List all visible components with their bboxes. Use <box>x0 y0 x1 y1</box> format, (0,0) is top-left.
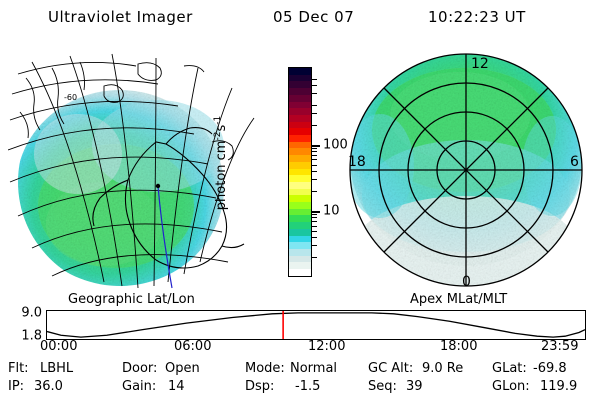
colorbar-band-0 <box>289 68 311 75</box>
colorbar-band-25 <box>289 236 311 243</box>
orbit-xtick-2: 12:00 <box>308 339 345 354</box>
colorbar-band-19 <box>289 195 311 202</box>
status-dsp-label: Dsp: <box>245 379 274 394</box>
orbit-ytick-high: 9.0 <box>0 306 42 321</box>
colorbar-minor-tick <box>312 79 317 80</box>
status-gain-label: Gain: <box>122 379 156 394</box>
status-mode-label: Mode: <box>245 361 285 376</box>
mlt-label-12: 12 <box>471 56 489 72</box>
orbit-xtick-0: 00:00 <box>40 339 77 354</box>
colorbar-band-7 <box>289 115 311 122</box>
status-row-1: Flt: LBHL Door: Open Mode: Normal GC Alt… <box>0 361 600 378</box>
colorbar-minor-tick <box>312 237 317 238</box>
colorbar-minor-tick <box>312 214 317 215</box>
geo-panel-caption: Geographic Lat/Lon <box>68 292 195 307</box>
status-flt-value: LBHL <box>40 361 73 376</box>
colorbar-band-14 <box>289 162 311 169</box>
colorbar-major-tick-10 <box>312 211 320 213</box>
colorbar-band-4 <box>289 95 311 102</box>
colorbar-band-24 <box>289 229 311 236</box>
colorbar-minor-tick <box>312 179 317 180</box>
orbit-plot-frame <box>46 310 586 340</box>
colorbar-minor-tick <box>312 125 317 126</box>
colorbar-minor-tick <box>312 85 317 86</box>
mlt-label-18: 18 <box>348 154 366 170</box>
colorbar-band-11 <box>289 142 311 149</box>
colorbar-minor-tick <box>312 148 317 149</box>
orbit-ytick-low: 1.8 <box>0 329 42 344</box>
colorbar-band-5 <box>289 102 311 109</box>
colorbar-minor-tick <box>312 226 317 227</box>
colorbar-band-23 <box>289 222 311 229</box>
colorbar-band-21 <box>289 209 311 216</box>
colorbar-minor-tick <box>312 221 317 222</box>
orbit-xtick-4: 23:59 <box>541 339 578 354</box>
observation-date: 05 Dec 07 <box>273 8 354 26</box>
colorbar-minor-tick <box>312 171 317 172</box>
colorbar-minor-tick <box>312 257 317 258</box>
status-glon-value: 119.9 <box>540 379 577 394</box>
status-flt-label: Flt: <box>8 361 29 376</box>
header-bar: Ultraviolet Imager 05 Dec 07 10:22:23 UT <box>0 6 600 32</box>
colorbar-title-mid: s <box>214 125 229 132</box>
status-seq-label: Seq: <box>368 379 397 394</box>
colorbar-axis: 10010 <box>312 67 334 277</box>
colorbar-minor-tick <box>312 245 317 246</box>
colorbar-minor-tick <box>312 155 317 156</box>
status-row-2: IP: 36.0 Gain: 14 Dsp: -1.5 Seq: 39 GLon… <box>0 379 600 396</box>
colorbar-tick-label-10: 10 <box>323 203 340 218</box>
colorbar-band-22 <box>289 215 311 222</box>
colorbar-band-27 <box>289 249 311 256</box>
colorbar-band-30 <box>289 269 311 276</box>
colorbar-band-15 <box>289 169 311 176</box>
colorbar-title: photon cm-2s-1 <box>213 68 229 258</box>
pole-marker <box>156 184 160 188</box>
colorbar-band-17 <box>289 182 311 189</box>
status-gcalt-label: GC Alt: <box>368 361 413 376</box>
status-dsp-value: -1.5 <box>295 379 320 394</box>
colorbar-band-20 <box>289 202 311 209</box>
status-block: Flt: LBHL Door: Open Mode: Normal GC Alt… <box>0 360 600 400</box>
orbit-altitude-panel: Geographic Lat/Lon Apex MLat/MLT GC Alt … <box>0 292 600 354</box>
mlt-label-6: 6 <box>570 154 579 170</box>
status-gain-value: 14 <box>168 379 185 394</box>
colorbar-minor-tick <box>312 165 317 166</box>
status-glat-label: GLat: <box>492 361 527 376</box>
colorbar-band-9 <box>289 128 311 135</box>
colorbar-title-main: photon cm <box>214 141 229 211</box>
status-door-label: Door: <box>122 361 157 376</box>
status-door-value: Open <box>165 361 200 376</box>
colorbar-band-16 <box>289 175 311 182</box>
magnetic-image-panel: 12 6 0 18 <box>340 46 592 294</box>
colorbar-band-28 <box>289 256 311 263</box>
colorbar-exp-2: -1 <box>213 116 223 125</box>
colorbar-band-2 <box>289 81 311 88</box>
colorbar-minor-tick <box>312 217 317 218</box>
status-ip-value: 36.0 <box>34 379 63 394</box>
orbit-altitude-curve <box>47 311 585 339</box>
colorbar-band-6 <box>289 108 311 115</box>
orbit-xtick-1: 06:00 <box>174 339 211 354</box>
status-mode-value: Normal <box>290 361 337 376</box>
colorbar-minor-tick <box>312 191 317 192</box>
geo-grid-label: -60 <box>64 93 77 102</box>
status-seq-value: 39 <box>406 379 423 394</box>
mlt-spokes <box>350 54 582 286</box>
mag-panel-caption: Apex MLat/MLT <box>410 292 507 307</box>
colorbar-major-tick-100 <box>312 145 320 147</box>
colorbar-exp-1: -2 <box>213 132 223 141</box>
status-glat-value: -69.8 <box>533 361 567 376</box>
colorbar-band-12 <box>289 148 311 155</box>
status-glon-label: GLon: <box>492 379 530 394</box>
colorbar-band-18 <box>289 189 311 196</box>
colorbar-band-8 <box>289 122 311 129</box>
colorbar-band-10 <box>289 135 311 142</box>
instrument-title: Ultraviolet Imager <box>48 8 193 26</box>
colorbar-band-13 <box>289 155 311 162</box>
colorbar-band-1 <box>289 75 311 82</box>
status-ip-label: IP: <box>8 379 24 394</box>
mlt-label-0: 0 <box>462 274 471 290</box>
status-gcalt-value: 9.0 Re <box>422 361 463 376</box>
colorbar-legend: 10010 photon cm-2s-1 <box>265 58 337 290</box>
colorbar-minor-tick <box>312 93 317 94</box>
colorbar-minor-tick <box>312 151 317 152</box>
colorbar-minor-tick <box>312 231 317 232</box>
colorbar-band-26 <box>289 242 311 249</box>
orbit-xtick-3: 18:00 <box>440 339 477 354</box>
colorbar-band-3 <box>289 88 311 95</box>
colorbar-minor-tick <box>312 159 317 160</box>
colorbar-gradient <box>288 67 312 277</box>
colorbar-band-29 <box>289 262 311 269</box>
observation-time: 10:22:23 UT <box>428 8 526 26</box>
colorbar-minor-tick <box>312 113 317 114</box>
colorbar-minor-tick <box>312 105 317 106</box>
apex-polar-plot: 12 6 0 18 <box>340 46 592 294</box>
